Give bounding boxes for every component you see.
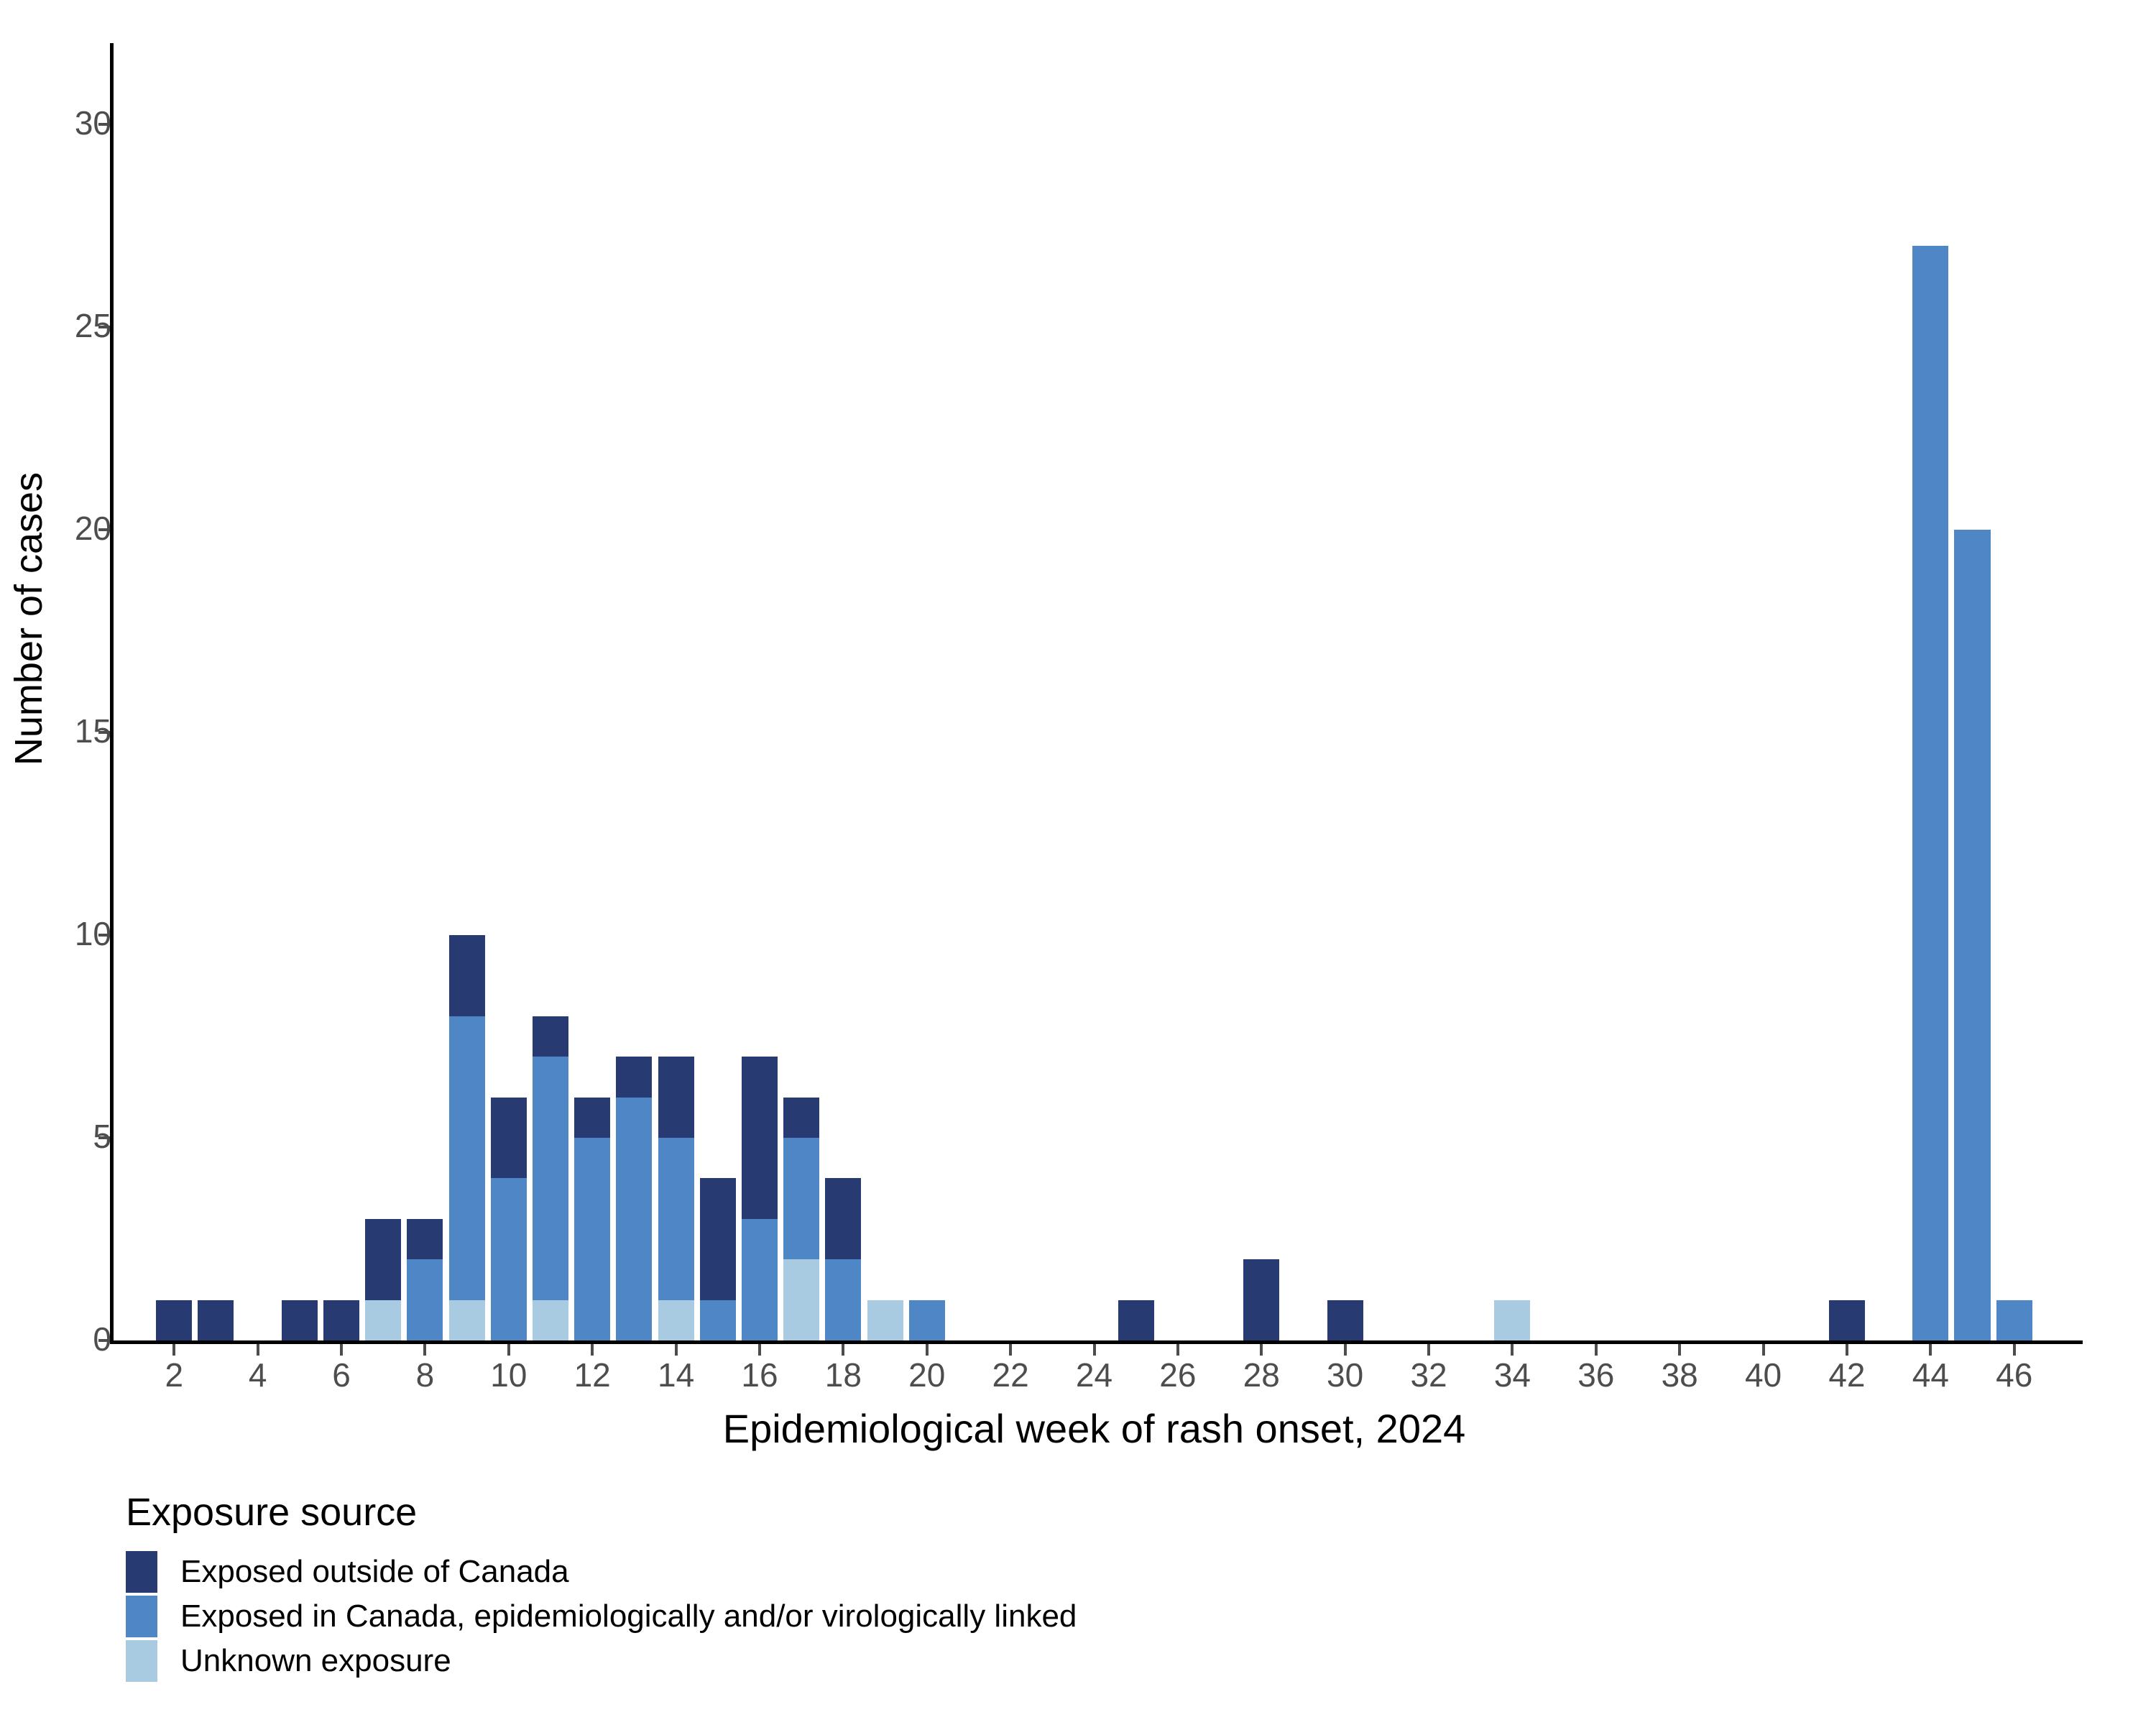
bar-group xyxy=(491,1098,527,1340)
x-tick-label: 36 xyxy=(1577,1358,1614,1391)
bar-segment xyxy=(1243,1259,1279,1340)
bar-group xyxy=(1829,1300,1865,1340)
x-tick-mark xyxy=(1093,1344,1096,1356)
bar-segment xyxy=(742,1057,778,1219)
bar-segment xyxy=(407,1219,443,1259)
bar-group xyxy=(783,1098,819,1340)
bar-segment xyxy=(783,1259,819,1340)
bar-segment xyxy=(700,1178,736,1299)
bar-segment xyxy=(491,1178,527,1340)
legend-item: Unknown exposure xyxy=(126,1639,1563,1683)
legend-item-label: Unknown exposure xyxy=(180,1645,451,1677)
bar-segment xyxy=(365,1219,401,1300)
x-tick-label: 42 xyxy=(1828,1358,1865,1391)
bar-segment xyxy=(1912,246,1948,1340)
epidemic-curve-figure: Number of cases 051015202530 24681012141… xyxy=(0,0,2156,1725)
bar-group xyxy=(658,1057,694,1340)
legend-item: Exposed in Canada, epidemiologically and… xyxy=(126,1594,1563,1639)
x-tick-mark xyxy=(1929,1344,1932,1356)
bar-group xyxy=(574,1098,610,1340)
x-tick-label: 14 xyxy=(658,1358,694,1391)
bar-segment xyxy=(533,1016,568,1057)
bar-segment xyxy=(491,1098,527,1179)
legend: Exposure source Exposed outside of Canad… xyxy=(126,1491,1563,1683)
bar-group xyxy=(616,1057,652,1340)
bar-group xyxy=(1996,1300,2032,1340)
x-tick-label: 10 xyxy=(490,1358,527,1391)
bar-segment xyxy=(825,1178,861,1259)
legend-item-label: Exposed in Canada, epidemiologically and… xyxy=(180,1601,1077,1632)
bar-segment xyxy=(449,935,485,1016)
x-tick-label: 30 xyxy=(1327,1358,1363,1391)
legend-item: Exposed outside of Canada xyxy=(126,1550,1563,1594)
x-tick-label: 24 xyxy=(1076,1358,1112,1391)
x-tick-mark xyxy=(507,1344,510,1356)
x-tick-mark xyxy=(842,1344,844,1356)
x-tick-mark xyxy=(1176,1344,1179,1356)
x-tick-mark xyxy=(1762,1344,1765,1356)
x-tick-mark xyxy=(1427,1344,1430,1356)
bar-group xyxy=(407,1219,443,1340)
bar-segment xyxy=(1118,1300,1154,1340)
x-tick-label: 8 xyxy=(416,1358,435,1391)
x-axis-line xyxy=(110,1340,2083,1344)
bar-segment xyxy=(867,1300,903,1340)
bar-segment xyxy=(616,1098,652,1340)
x-tick-label: 46 xyxy=(1996,1358,2032,1391)
legend-swatch-icon xyxy=(126,1551,157,1593)
x-axis-title: Epidemiological week of rash onset, 2024 xyxy=(111,1405,2077,1452)
y-tick-label: 20 xyxy=(75,512,111,545)
bar-segment xyxy=(658,1138,694,1300)
y-tick-label: 0 xyxy=(93,1322,111,1356)
bar-segment xyxy=(700,1300,736,1340)
x-tick-mark xyxy=(1678,1344,1681,1356)
x-tick-mark xyxy=(1846,1344,1848,1356)
bar-segment xyxy=(909,1300,945,1340)
bar-segment xyxy=(533,1057,568,1299)
x-tick-mark xyxy=(591,1344,594,1356)
x-tick-mark xyxy=(758,1344,761,1356)
bar-segment xyxy=(783,1138,819,1259)
bar-segment xyxy=(365,1300,401,1340)
x-tick-label: 2 xyxy=(165,1358,183,1391)
x-tick-label: 38 xyxy=(1662,1358,1698,1391)
bar-group xyxy=(1327,1300,1363,1340)
x-tick-label: 44 xyxy=(1912,1358,1949,1391)
bar-group xyxy=(533,1016,568,1340)
bar-group xyxy=(449,935,485,1340)
bar-group xyxy=(742,1057,778,1340)
legend-swatch-icon xyxy=(126,1640,157,1682)
bar-segment xyxy=(449,1016,485,1300)
x-tick-label: 20 xyxy=(908,1358,945,1391)
bar-group xyxy=(282,1300,318,1340)
x-tick-mark xyxy=(2013,1344,2016,1356)
bar-segment xyxy=(1327,1300,1363,1340)
y-tick-label: 30 xyxy=(75,106,111,139)
y-tick-label: 10 xyxy=(75,917,111,950)
legend-items: Exposed outside of CanadaExposed in Cana… xyxy=(126,1550,1563,1683)
x-tick-label: 6 xyxy=(332,1358,351,1391)
bar-segment xyxy=(616,1057,652,1097)
bar-segment xyxy=(1996,1300,2032,1340)
bar-segment xyxy=(156,1300,192,1340)
bar-segment xyxy=(323,1300,359,1340)
bar-segment xyxy=(407,1259,443,1340)
y-tick-label: 5 xyxy=(93,1120,111,1153)
bar-group xyxy=(1954,530,1990,1340)
x-tick-label: 40 xyxy=(1745,1358,1782,1391)
x-tick-label: 22 xyxy=(992,1358,1029,1391)
x-tick-mark xyxy=(172,1344,175,1356)
bar-group xyxy=(1118,1300,1154,1340)
bar-segment xyxy=(1954,530,1990,1340)
x-tick-mark xyxy=(1595,1344,1598,1356)
bar-segment xyxy=(198,1300,234,1340)
x-tick-label: 12 xyxy=(574,1358,611,1391)
y-tick-label: 15 xyxy=(75,714,111,747)
x-tick-mark xyxy=(1344,1344,1347,1356)
bar-segment xyxy=(742,1219,778,1340)
bar-segment xyxy=(1829,1300,1865,1340)
bar-group xyxy=(323,1300,359,1340)
bar-segment xyxy=(533,1300,568,1340)
bar-segment xyxy=(783,1098,819,1138)
bar-group xyxy=(867,1300,903,1340)
x-tick-mark xyxy=(423,1344,426,1356)
y-tick-label: 25 xyxy=(75,309,111,342)
x-tick-label: 4 xyxy=(249,1358,267,1391)
plot-area xyxy=(111,43,2077,1340)
x-tick-label: 18 xyxy=(825,1358,862,1391)
x-tick-label: 16 xyxy=(741,1358,778,1391)
bar-group xyxy=(825,1178,861,1340)
bar-segment xyxy=(825,1259,861,1340)
x-tick-mark xyxy=(1009,1344,1012,1356)
bar-segment xyxy=(658,1300,694,1340)
bar-group xyxy=(365,1219,401,1340)
bar-group xyxy=(198,1300,234,1340)
bar-segment xyxy=(282,1300,318,1340)
bar-segment xyxy=(574,1098,610,1138)
legend-title: Exposure source xyxy=(126,1491,1563,1534)
legend-item-label: Exposed outside of Canada xyxy=(180,1556,569,1588)
legend-swatch-icon xyxy=(126,1596,157,1637)
y-axis-title: Number of cases xyxy=(6,188,51,1050)
x-tick-label: 26 xyxy=(1159,1358,1196,1391)
bar-group xyxy=(1243,1259,1279,1340)
bar-segment xyxy=(574,1138,610,1340)
x-tick-label: 28 xyxy=(1243,1358,1280,1391)
bar-group xyxy=(156,1300,192,1340)
x-tick-mark xyxy=(1511,1344,1514,1356)
bar-group xyxy=(1494,1300,1530,1340)
bar-group xyxy=(909,1300,945,1340)
x-tick-label: 32 xyxy=(1410,1358,1447,1391)
x-tick-mark xyxy=(1260,1344,1263,1356)
bar-group xyxy=(1912,246,1948,1340)
x-tick-mark xyxy=(340,1344,343,1356)
x-tick-mark xyxy=(257,1344,259,1356)
bar-segment xyxy=(1494,1300,1530,1340)
x-tick-mark xyxy=(675,1344,678,1356)
bar-group xyxy=(700,1178,736,1340)
bar-segment xyxy=(449,1300,485,1340)
x-tick-label: 34 xyxy=(1494,1358,1531,1391)
x-tick-mark xyxy=(926,1344,929,1356)
bar-segment xyxy=(658,1057,694,1138)
